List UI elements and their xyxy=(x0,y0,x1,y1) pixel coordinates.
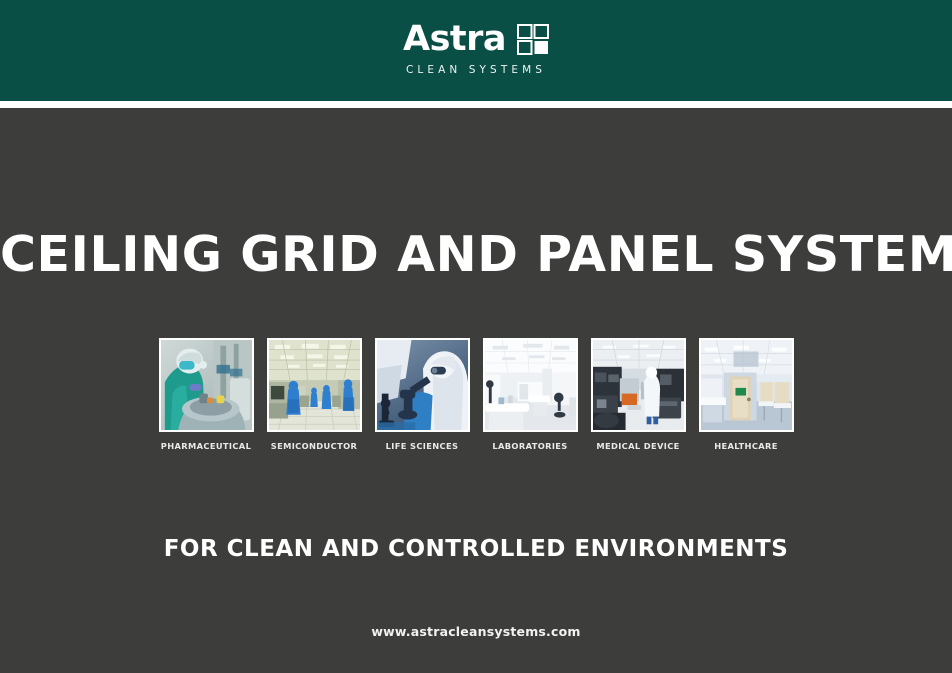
brand-name: Astra xyxy=(403,22,506,57)
industry-item-medical-device: MEDICAL DEVICE xyxy=(591,338,686,451)
industry-item-life-sciences: LIFE SCIENCES xyxy=(375,338,470,451)
medical-device-production-floor-photo xyxy=(591,338,686,432)
semiconductor-fab-cleanroom-photo xyxy=(267,338,362,432)
industry-label: HEALTHCARE xyxy=(714,441,778,451)
industry-label: MEDICAL DEVICE xyxy=(596,441,679,451)
industry-item-healthcare: HEALTHCARE xyxy=(699,338,794,451)
industry-item-pharmaceutical: PHARMACEUTICAL xyxy=(159,338,254,451)
pharmaceutical-cleanroom-operator-photo xyxy=(159,338,254,432)
brand-tagline: CLEAN SYSTEMS xyxy=(0,64,952,76)
life-sciences-microscope-photo xyxy=(375,338,470,432)
industry-thumbnail-strip: PHARMACEUTICAL xyxy=(0,338,952,451)
website-url: www.astracleansystems.com xyxy=(0,624,952,639)
industry-label: SEMICONDUCTOR xyxy=(271,441,357,451)
industry-item-laboratories: LABORATORIES xyxy=(483,338,578,451)
laboratory-benches-photo xyxy=(483,338,578,432)
brand-lockup: Astra CLEAN SYSTEMS xyxy=(0,22,952,76)
industry-label: LABORATORIES xyxy=(492,441,567,451)
healthcare-cleanroom-corridor-photo xyxy=(699,338,794,432)
industry-label: PHARMACEUTICAL xyxy=(161,441,251,451)
brochure-cover-page: Astra CLEAN SYSTEMS CEILING GRID AND PAN… xyxy=(0,0,952,673)
industry-label: LIFE SCIENCES xyxy=(386,441,459,451)
page-title: CEILING GRID AND PANEL SYSTEMS xyxy=(0,229,952,280)
header-divider-rule xyxy=(0,101,952,108)
logo-row: Astra xyxy=(403,22,549,57)
header-band: Astra CLEAN SYSTEMS xyxy=(0,0,952,101)
industry-item-semiconductor: SEMICONDUCTOR xyxy=(267,338,362,451)
four-square-grid-icon xyxy=(517,24,549,55)
subtitle-tagline: FOR CLEAN AND CONTROLLED ENVIRONMENTS xyxy=(0,536,952,562)
